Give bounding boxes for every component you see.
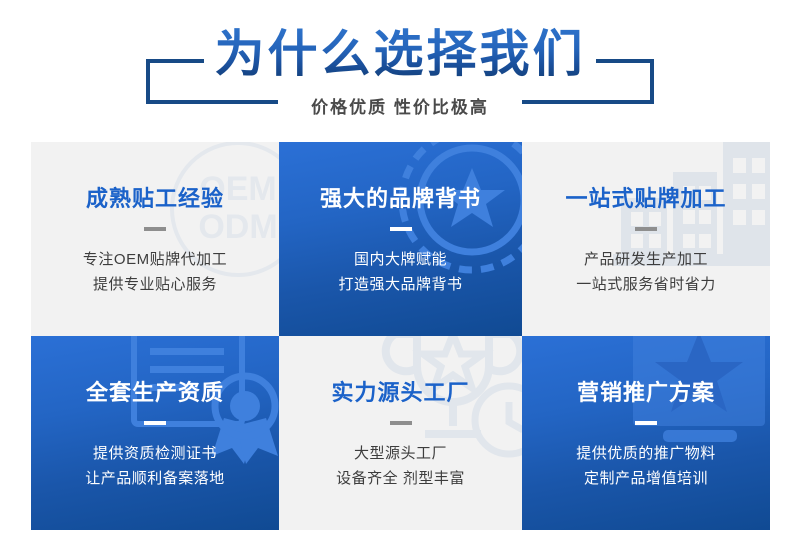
feature-card-body: 国内大牌赋能 打造强大品牌背书 <box>338 247 462 297</box>
page-header: 为什么选择我们 价格优质 性价比极高 <box>0 0 800 142</box>
feature-card-4[interactable]: 全套生产资质 提供资质检测证书 让产品顺利备案落地 <box>31 336 279 530</box>
page-subtitle: 价格优质 性价比极高 <box>0 93 800 118</box>
feature-card-line-2: 提供专业贴心服务 <box>83 272 227 297</box>
title-divider-dash <box>390 227 412 231</box>
feature-card-title: 全套生产资质 <box>86 375 224 407</box>
feature-card-line-2: 打造强大品牌背书 <box>338 272 462 297</box>
feature-card-3[interactable]: 一站式贴牌加工 产品研发生产加工 一站式服务省时省力 <box>522 142 770 336</box>
title-divider-dash <box>635 421 657 425</box>
feature-card-line-1: 大型源头工厂 <box>336 441 465 466</box>
feature-card-body: 提供优质的推广物料 定制产品增值培训 <box>576 441 716 491</box>
feature-card-line-1: 提供优质的推广物料 <box>576 441 716 466</box>
title-divider-dash <box>144 227 166 231</box>
feature-card-line-2: 一站式服务省时省力 <box>576 272 716 297</box>
feature-card-body: 专注OEM贴牌代加工 提供专业贴心服务 <box>83 247 227 297</box>
title-divider-dash <box>390 421 412 425</box>
feature-card-title: 实力源头工厂 <box>331 375 469 407</box>
feature-card-1[interactable]: OEM ODM 成熟贴工经验 专注OEM贴牌代加工 提供专业贴心服务 <box>31 142 279 336</box>
feature-card-line-1: 国内大牌赋能 <box>338 247 462 272</box>
feature-card-title: 一站式贴牌加工 <box>565 181 726 213</box>
feature-card-line-1: 产品研发生产加工 <box>576 247 716 272</box>
feature-grid: OEM ODM 成熟贴工经验 专注OEM贴牌代加工 提供专业贴心服务 强大的品牌… <box>31 142 770 530</box>
feature-card-6[interactable]: 营销推广方案 提供优质的推广物料 定制产品增值培训 <box>522 336 770 530</box>
svg-text:ODM: ODM <box>198 208 277 246</box>
feature-card-title: 营销推广方案 <box>577 375 715 407</box>
feature-card-line-2: 定制产品增值培训 <box>576 466 716 491</box>
feature-card-2[interactable]: 强大的品牌背书 国内大牌赋能 打造强大品牌背书 <box>279 142 522 336</box>
title-divider-dash <box>144 421 166 425</box>
feature-card-title: 强大的品牌背书 <box>320 181 481 213</box>
feature-card-body: 产品研发生产加工 一站式服务省时省力 <box>576 247 716 297</box>
feature-card-5[interactable]: 实力源头工厂 大型源头工厂 设备齐全 剂型丰富 <box>279 336 522 530</box>
feature-card-body: 提供资质检测证书 让产品顺利备案落地 <box>85 441 225 491</box>
feature-card-line-1: 提供资质检测证书 <box>85 441 225 466</box>
title-divider-dash <box>635 227 657 231</box>
feature-card-title: 成熟贴工经验 <box>86 181 224 213</box>
page-title: 为什么选择我们 <box>0 26 800 82</box>
feature-card-body: 大型源头工厂 设备齐全 剂型丰富 <box>336 441 465 491</box>
feature-card-line-1: 专注OEM贴牌代加工 <box>83 247 227 272</box>
feature-card-line-2: 设备齐全 剂型丰富 <box>336 466 465 491</box>
feature-card-line-2: 让产品顺利备案落地 <box>85 466 225 491</box>
